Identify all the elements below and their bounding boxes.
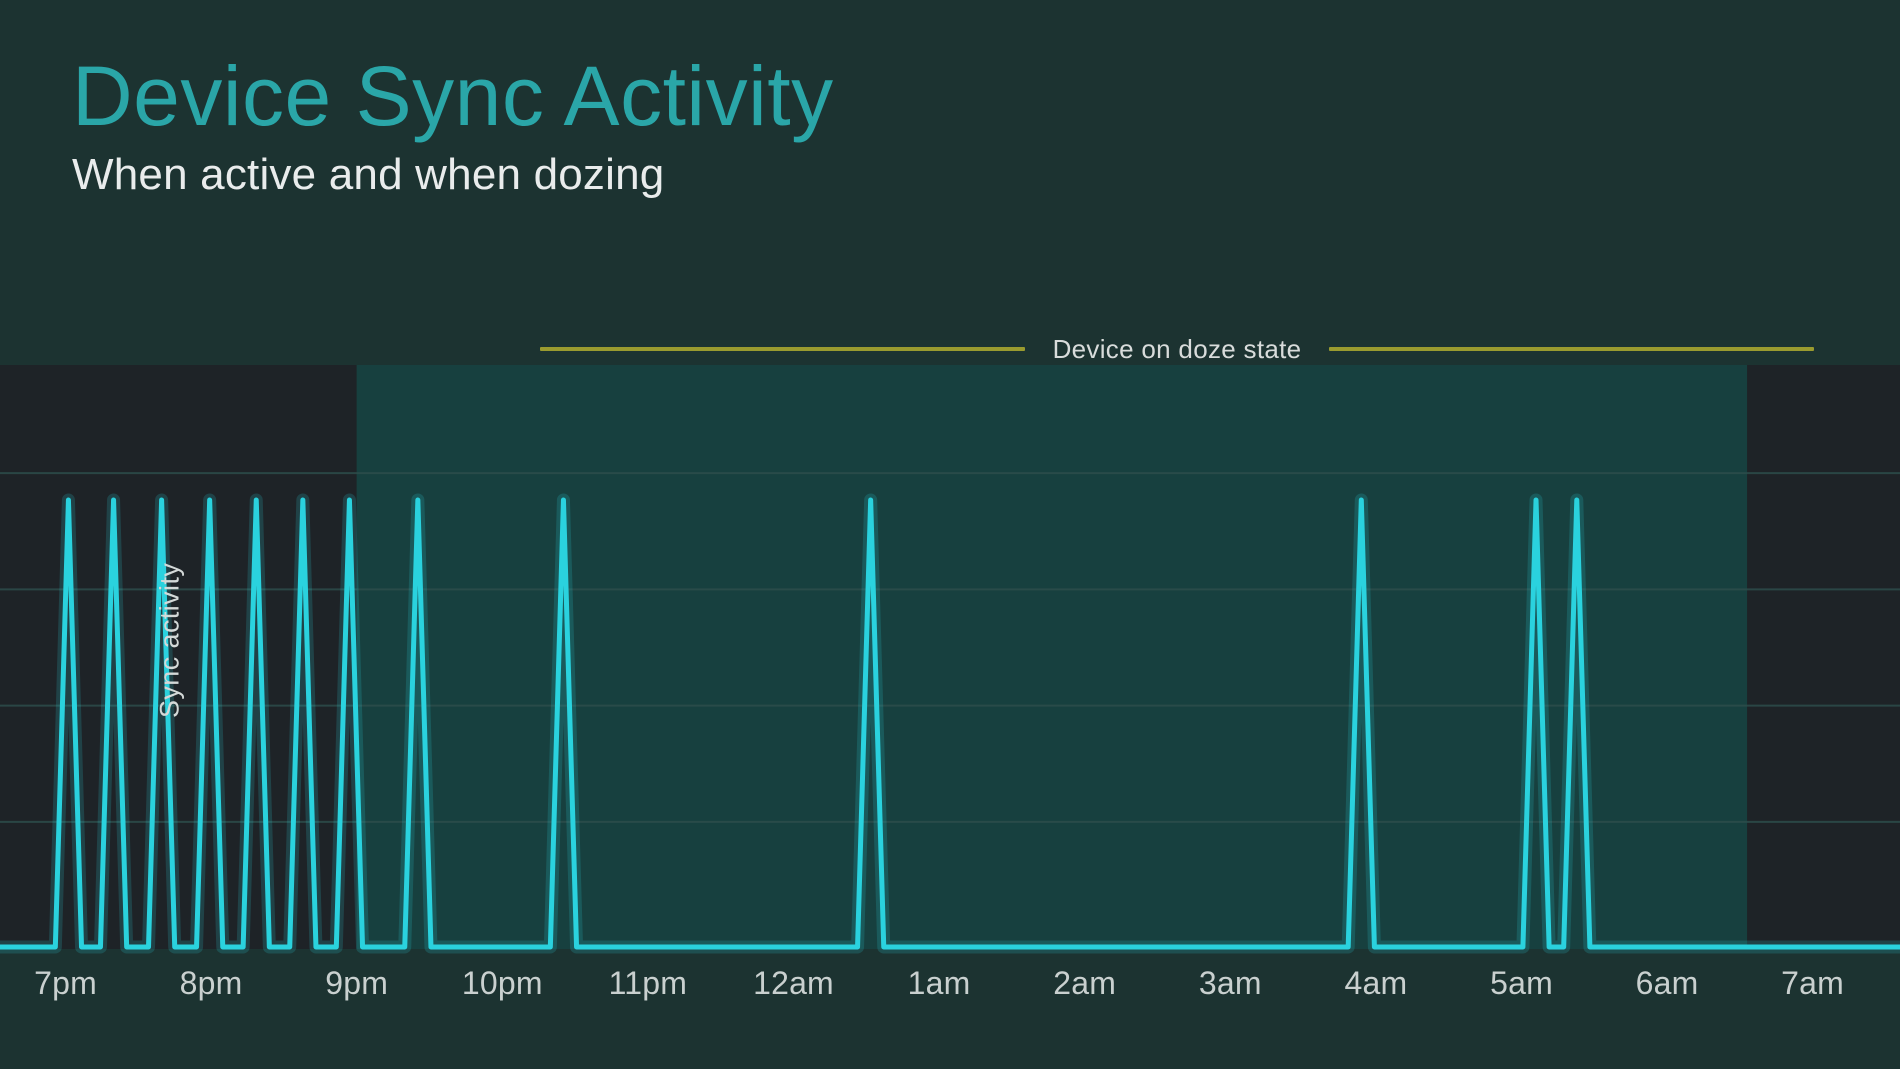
page-subtitle: When active and when dozing	[72, 150, 1472, 200]
state-band-layer	[0, 365, 1900, 949]
state-band-active	[1747, 365, 1900, 949]
legend-label: Device on doze state	[1025, 334, 1330, 365]
doze-state-legend: Device on doze state	[540, 333, 1814, 365]
chart-header: Device Sync Activity When active and whe…	[72, 52, 1472, 200]
page-title: Device Sync Activity	[72, 52, 1472, 140]
legend-rule-left	[540, 347, 1025, 351]
legend-rule-right	[1329, 347, 1814, 351]
y-axis-label: Sync activity	[150, 530, 190, 750]
